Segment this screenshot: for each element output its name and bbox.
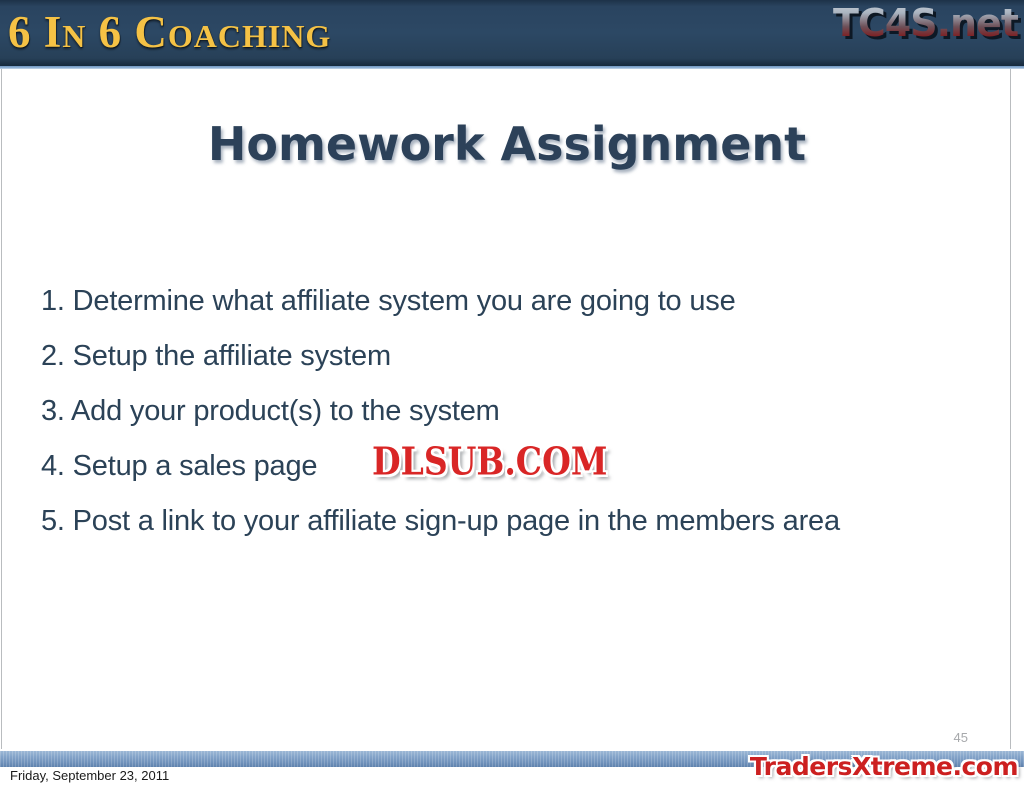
list-item: 2. Setup the affiliate system bbox=[41, 329, 991, 384]
tradersxtreme-watermark: TradersXtreme.com bbox=[750, 752, 1018, 781]
footer-date: Friday, September 23, 2011 bbox=[10, 768, 169, 783]
list-item: 5. Post a link to your affiliate sign-up… bbox=[41, 494, 991, 549]
presentation-slide: 6 In 6 Coaching TC4S.net Homework Assign… bbox=[0, 0, 1024, 788]
slide-content-area: Homework Assignment 1. Determine what af… bbox=[1, 69, 1011, 749]
dlsub-watermark: DLSUB.COM bbox=[372, 439, 607, 484]
brand-title: 6 In 6 Coaching bbox=[8, 4, 331, 60]
slide-header-band: 6 In 6 Coaching TC4S.net bbox=[0, 0, 1024, 66]
homework-steps-list: 1. Determine what affiliate system you a… bbox=[41, 274, 991, 549]
site-logo: TC4S.net bbox=[833, 0, 1018, 46]
list-item: 3. Add your product(s) to the system bbox=[41, 384, 991, 439]
list-item: 1. Determine what affiliate system you a… bbox=[41, 274, 991, 329]
slide-number: 45 bbox=[954, 730, 968, 745]
page-title: Homework Assignment bbox=[2, 117, 1012, 171]
